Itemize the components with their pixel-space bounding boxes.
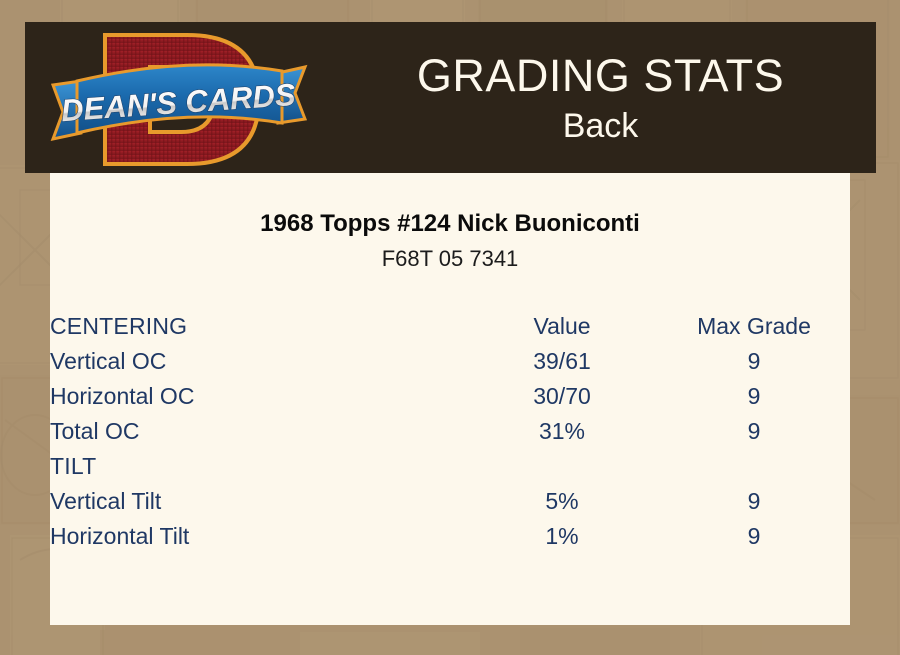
section-header-tilt: TILT	[50, 449, 466, 484]
row-value-horizontal-tilt: 1%	[466, 519, 658, 554]
row-grade-vertical-oc: 9	[658, 344, 850, 379]
row-value-vertical-oc: 39/61	[466, 344, 658, 379]
column-header-max-grade: Max Grade	[658, 309, 850, 344]
row-label-horizontal-oc: Horizontal OC	[50, 379, 466, 414]
content-panel: 1968 Topps #124 Nick Buoniconti F68T 05 …	[50, 173, 850, 625]
column-header-value: Value	[466, 309, 658, 344]
table-row: Horizontal OC 30/70 9	[50, 379, 850, 414]
card-title: 1968 Topps #124 Nick Buoniconti	[50, 173, 850, 239]
table-row: Horizontal Tilt 1% 9	[50, 519, 850, 554]
table-row: Total OC 31% 9	[50, 414, 850, 449]
row-grade-horizontal-oc: 9	[658, 379, 850, 414]
stats-table-body: CENTERING Value Max Grade Vertical OC 39…	[50, 309, 850, 554]
row-grade-horizontal-tilt: 9	[658, 519, 850, 554]
row-value-vertical-tilt: 5%	[466, 484, 658, 519]
row-grade-total-oc: 9	[658, 414, 850, 449]
page-subtitle: Back	[563, 105, 639, 147]
row-label-vertical-tilt: Vertical Tilt	[50, 484, 466, 519]
page-title: GRADING STATS	[417, 49, 784, 103]
row-value-horizontal-oc: 30/70	[466, 379, 658, 414]
section-tilt-value-spacer	[466, 449, 658, 484]
header-title-group: GRADING STATS Back	[325, 22, 876, 173]
section-row-tilt: TILT	[50, 449, 850, 484]
section-header-centering: CENTERING	[50, 309, 466, 344]
table-row: Vertical Tilt 5% 9	[50, 484, 850, 519]
row-label-vertical-oc: Vertical OC	[50, 344, 466, 379]
row-grade-vertical-tilt: 9	[658, 484, 850, 519]
table-header-row: CENTERING Value Max Grade	[50, 309, 850, 344]
row-label-total-oc: Total OC	[50, 414, 466, 449]
row-label-horizontal-tilt: Horizontal Tilt	[50, 519, 466, 554]
grading-stats-table: CENTERING Value Max Grade Vertical OC 39…	[50, 309, 850, 554]
grading-stats-page: DEAN'S CARDS GRADING STATS Back 1968 Top…	[0, 0, 900, 655]
header-bar: DEAN'S CARDS GRADING STATS Back	[25, 22, 876, 173]
row-value-total-oc: 31%	[466, 414, 658, 449]
table-row: Vertical OC 39/61 9	[50, 344, 850, 379]
card-serial-number: F68T 05 7341	[50, 239, 850, 273]
deans-cards-logo[interactable]: DEAN'S CARDS	[47, 27, 312, 172]
section-tilt-grade-spacer	[658, 449, 850, 484]
